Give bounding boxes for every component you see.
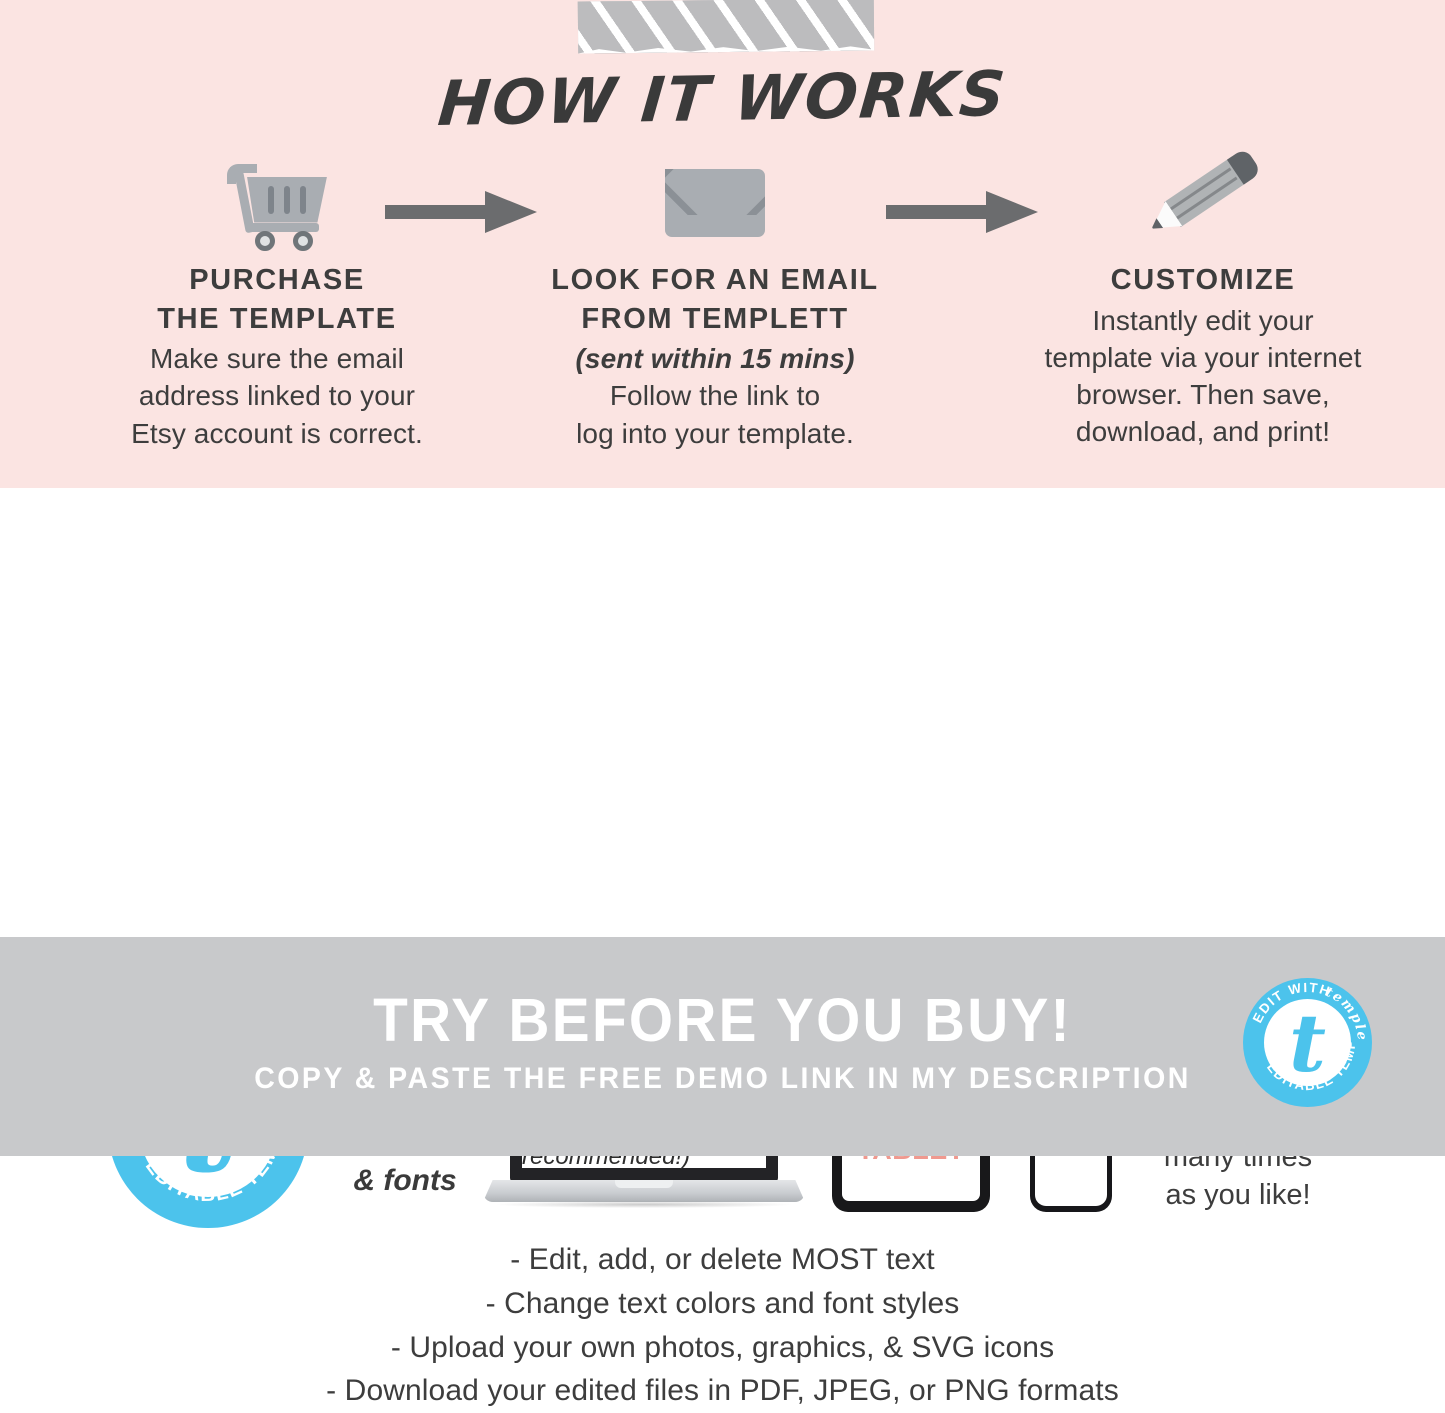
step-body: Instantly edit your template via your in… (988, 302, 1418, 451)
infographic-page: HOW IT WORKS (0, 0, 1445, 1156)
step-body-line: address linked to your (92, 377, 462, 414)
no-install-line: & fonts (330, 1161, 480, 1200)
step-title-line: CUSTOMIZE (988, 261, 1418, 300)
washi-tape-stripes (578, 0, 875, 54)
cart-slot (284, 186, 290, 214)
step-body: (sent within 15 mins) Follow the link to… (505, 340, 925, 452)
how-it-works-section: HOW IT WORKS (0, 0, 1445, 488)
step-body-line: Instantly edit your (988, 302, 1418, 339)
step-icon-wrap (988, 150, 1418, 255)
envelope-icon (661, 163, 769, 243)
pencil-icon (1144, 157, 1262, 249)
step-body-line: Make sure the email (92, 340, 462, 377)
step-title: CUSTOMIZE (988, 261, 1418, 300)
laptop-base-notch (615, 1180, 673, 1188)
step-title-line: PURCHASE (92, 261, 462, 300)
washi-tape-icon (578, 0, 875, 54)
step-title-line: THE TEMPLATE (92, 300, 462, 339)
step-customize: CUSTOMIZE Instantly edit your template v… (988, 150, 1418, 451)
laptop-shadow (497, 1201, 791, 1208)
step-title: LOOK FOR AN EMAIL FROM TEMPLETT (505, 261, 925, 338)
pencil-rotation-wrap (1144, 147, 1262, 240)
envelope-flap (665, 169, 765, 215)
footer-subtitle: COPY & PASTE THE FREE DEMO LINK IN MY DE… (36, 1062, 1409, 1096)
step-body-line: Etsy account is correct. (92, 415, 462, 452)
step-body-line-italic: (sent within 15 mins) (505, 340, 925, 377)
cart-bottom-bar (249, 223, 319, 232)
step-body: Make sure the email address linked to yo… (92, 340, 462, 452)
step-body-line: Follow the link to (505, 377, 925, 414)
step-look-for-email: LOOK FOR AN EMAIL FROM TEMPLETT (sent wi… (505, 150, 925, 452)
feature-list: - Edit, add, or delete MOST text - Chang… (0, 1238, 1445, 1413)
seal-center-letter: t (1243, 978, 1372, 1107)
step-body-line: log into your template. (505, 415, 925, 452)
step-icon-wrap (92, 150, 462, 255)
list-item: - Change text colors and font styles (0, 1282, 1445, 1326)
step-title-line: LOOK FOR AN EMAIL (505, 261, 925, 300)
step-body-line: browser. Then save, (988, 376, 1418, 413)
cart-wheel (293, 231, 313, 251)
cart-slot (268, 186, 274, 214)
devices-section: EDIT WITH templett EDITABLE TEMPLATE t N… (0, 488, 1445, 937)
step-icon-wrap (505, 150, 925, 255)
one-year-line: as you like! (1118, 1177, 1358, 1215)
footer-title: TRY BEFORE YOU BUY! (51, 985, 1395, 1055)
page-title: HOW IT WORKS (0, 49, 1445, 147)
list-item: - Upload your own photos, graphics, & SV… (0, 1326, 1445, 1370)
shopping-cart-icon (223, 157, 331, 249)
step-body-line: download, and print! (988, 413, 1418, 450)
step-title: PURCHASE THE TEMPLATE (92, 261, 462, 338)
list-item: - Download your edited files in PDF, JPE… (0, 1369, 1445, 1413)
cart-wheel (255, 231, 275, 251)
templett-seal-icon: EDIT WITH templett EDITABLE TEMPLATE t (1243, 978, 1372, 1107)
list-item: - Edit, add, or delete MOST text (0, 1238, 1445, 1282)
step-purchase: PURCHASE THE TEMPLATE Make sure the emai… (92, 150, 462, 452)
cart-slot (300, 186, 306, 214)
step-body-line: template via your internet (988, 339, 1418, 376)
steps-row: PURCHASE THE TEMPLATE Make sure the emai… (0, 150, 1445, 470)
step-title-line: FROM TEMPLETT (505, 300, 925, 339)
